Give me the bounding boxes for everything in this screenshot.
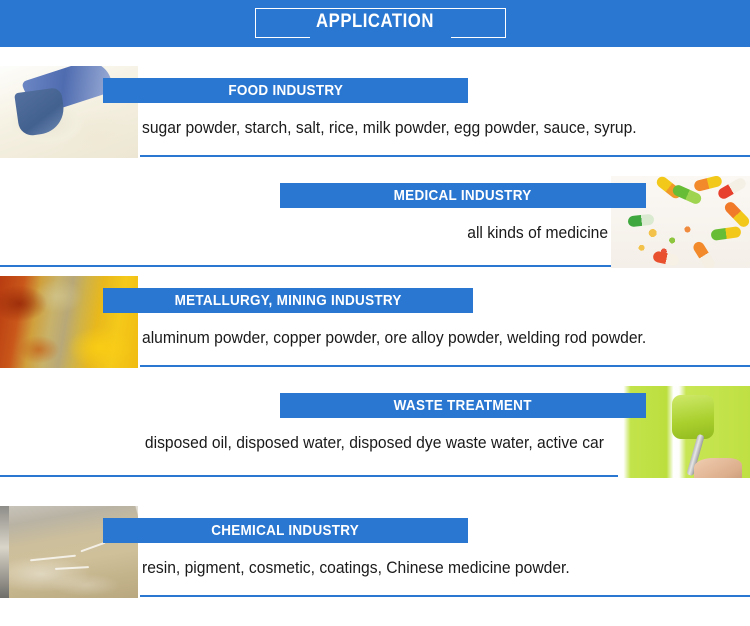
- row-description-waste: disposed oil, disposed water, disposed d…: [105, 433, 604, 453]
- row-title-metallurgy: METALLURGY, MINING INDUSTRY: [174, 288, 401, 313]
- capsule-icon: [627, 213, 654, 227]
- hand-holding-roller: [694, 458, 741, 478]
- row-separator-chemical: [140, 595, 750, 597]
- application-row-metallurgy: METALLURGY, MINING INDUSTRY aluminum pow…: [0, 276, 750, 368]
- row-description-food: sugar powder, starch, salt, rice, milk p…: [142, 118, 680, 138]
- row-title-food: FOOD INDUSTRY: [228, 78, 343, 103]
- frame-top-border: [255, 8, 506, 9]
- page-title: APPLICATION: [45, 11, 705, 33]
- row-title-medical: MEDICAL INDUSTRY: [394, 183, 532, 208]
- row-separator-medical: [0, 265, 611, 267]
- frame-bottom-right-border: [451, 37, 506, 38]
- row-title-bar-chemical: CHEMICAL INDUSTRY: [103, 518, 468, 543]
- application-row-food: FOOD INDUSTRY sugar powder, starch, salt…: [0, 66, 750, 158]
- row-title-chemical: CHEMICAL INDUSTRY: [212, 518, 360, 543]
- row-separator-food: [140, 155, 750, 157]
- frame-bottom-left-border: [255, 37, 310, 38]
- row-title-bar-food: FOOD INDUSTRY: [103, 78, 468, 103]
- row-description-medical: all kinds of medicine: [455, 223, 608, 243]
- row-separator-metallurgy: [140, 365, 750, 367]
- row-title-bar-metallurgy: METALLURGY, MINING INDUSTRY: [103, 288, 473, 313]
- row-description-metallurgy: aluminum powder, copper powder, ore allo…: [142, 328, 690, 348]
- row-title-bar-waste: WASTE TREATMENT: [280, 393, 646, 418]
- application-row-medical: MEDICAL INDUSTRY all kinds of medicine: [0, 176, 750, 268]
- application-row-chemical: CHEMICAL INDUSTRY resin, pigment, cosmet…: [0, 506, 750, 598]
- row-title-waste: WASTE TREATMENT: [394, 393, 532, 418]
- application-header-bar: APPLICATION: [0, 0, 750, 47]
- row-separator-waste: [0, 475, 618, 477]
- row-description-chemical: resin, pigment, cosmetic, coatings, Chin…: [142, 558, 607, 578]
- application-row-waste: WASTE TREATMENT disposed oil, disposed w…: [0, 386, 750, 478]
- row-title-bar-medical: MEDICAL INDUSTRY: [280, 183, 646, 208]
